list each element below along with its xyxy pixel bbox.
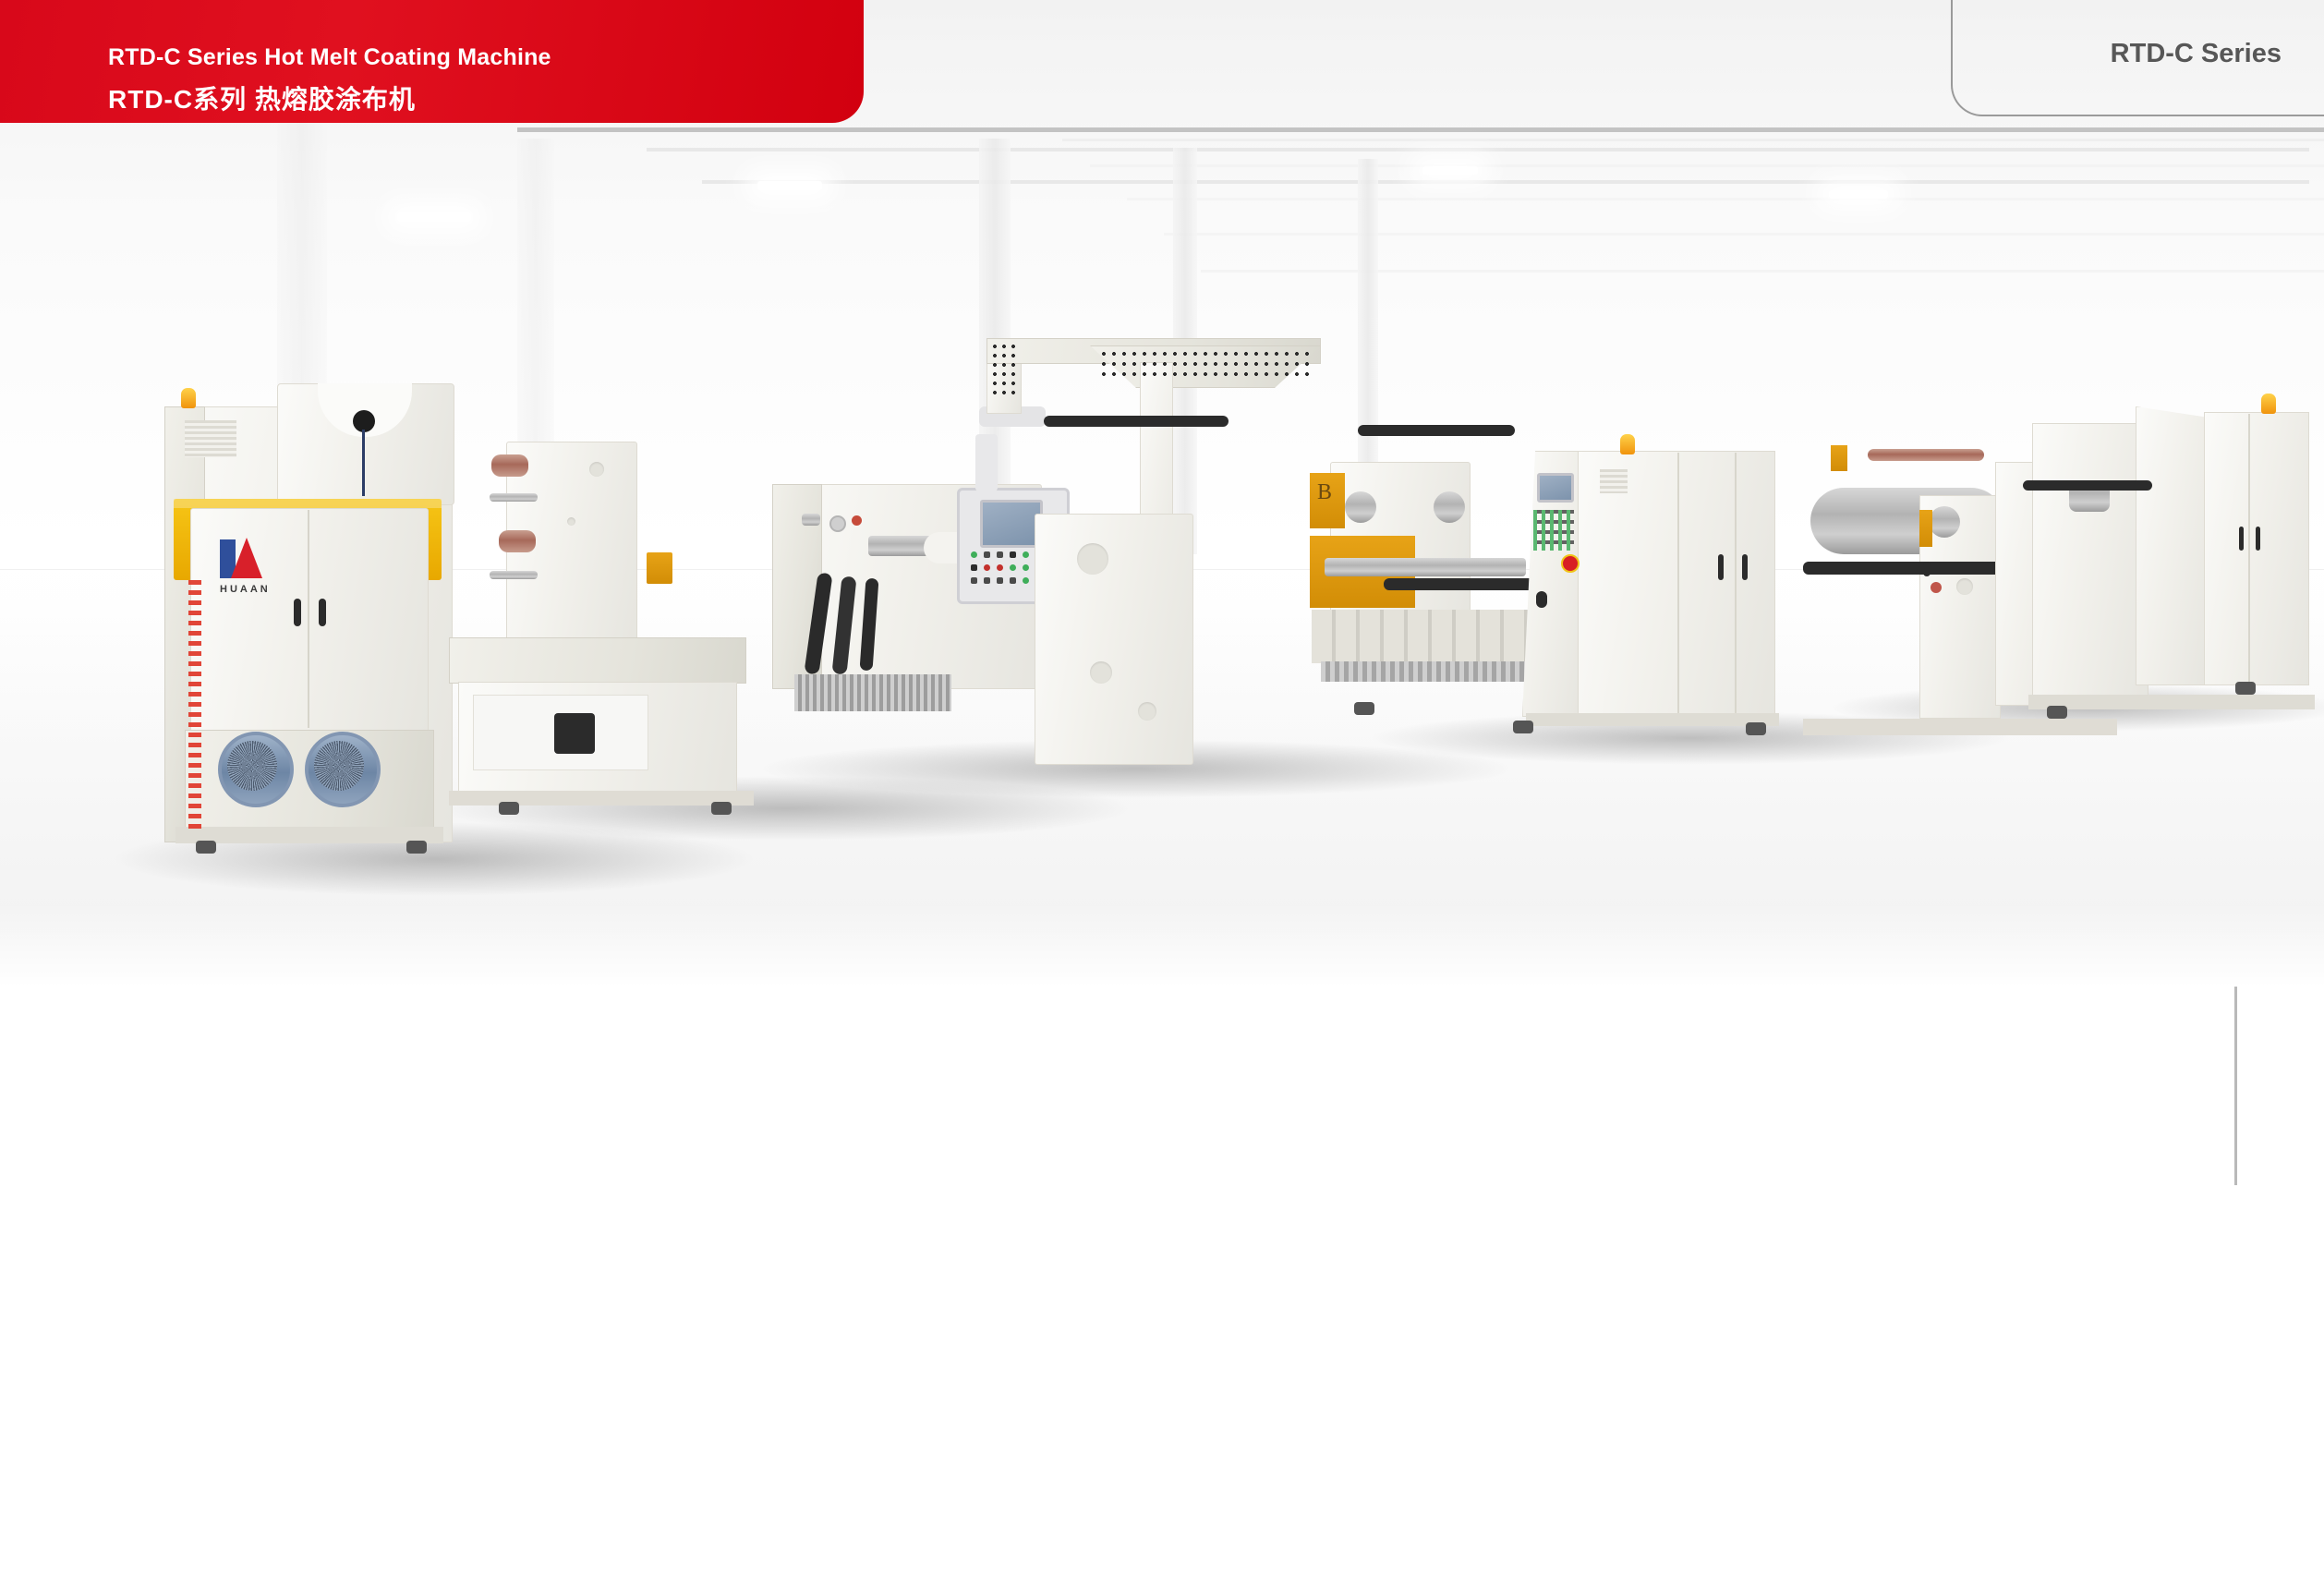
huaan-logo-text: HUAAN (220, 584, 271, 595)
title-english: RTD-C Series Hot Melt Coating Machine (108, 44, 551, 71)
unwinder-label-b: B (1317, 480, 1332, 505)
product-photo: HUAAN (0, 0, 2324, 987)
huaan-logo: HUAAN (220, 536, 331, 600)
series-tab-label: RTD-C Series (2111, 39, 2282, 69)
right-margin (2236, 987, 2324, 1587)
title-banner: RTD-C Series Hot Melt Coating Machine RT… (0, 0, 864, 123)
panel-right-edge (2234, 987, 2237, 1185)
series-tab: RTD-C Series (1951, 0, 2324, 116)
specifications-panel (0, 987, 2236, 1587)
title-chinese: RTD-C系列 热熔胶涂布机 (108, 79, 416, 116)
